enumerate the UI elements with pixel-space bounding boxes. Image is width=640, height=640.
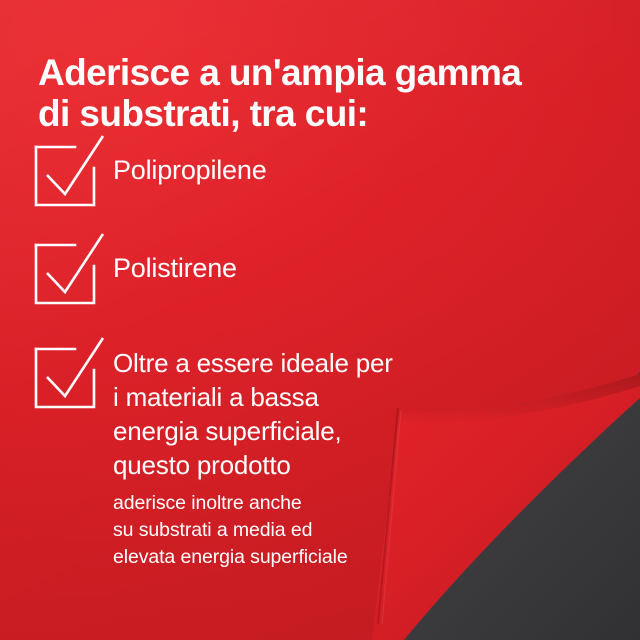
secondary-line-2: su substrati a media ed (113, 517, 348, 544)
page-title: Aderisce a un'ampia gamma di substrati, … (38, 52, 608, 134)
primary-line-2: i materiali a bassa (113, 380, 393, 414)
headline-line-1: Aderisce a un'ampia gamma (38, 52, 608, 93)
primary-line-1: Oltre a essere ideale per (113, 346, 393, 380)
list-item-primary-text: Oltre a essere ideale per i materiali a … (113, 346, 393, 482)
promo-card: Aderisce a un'ampia gamma di substrati, … (0, 0, 640, 640)
list-item-label: Polistirene (113, 251, 237, 285)
primary-line-4: questo prodotto (113, 448, 393, 482)
secondary-line-3: elevata energia superficiale (113, 544, 348, 571)
checkbox-check-icon (33, 340, 105, 412)
list-item-secondary-text: aderisce inoltre anche su substrati a me… (113, 490, 348, 571)
checkbox-check-icon (33, 236, 105, 308)
primary-line-3: energia superficiale, (113, 414, 393, 448)
secondary-line-1: aderisce inoltre anche (113, 490, 348, 517)
headline-line-2: di substrati, tra cui: (38, 93, 608, 134)
list-item-label: Polipropilene (113, 153, 267, 187)
checkbox-check-icon (33, 138, 105, 210)
